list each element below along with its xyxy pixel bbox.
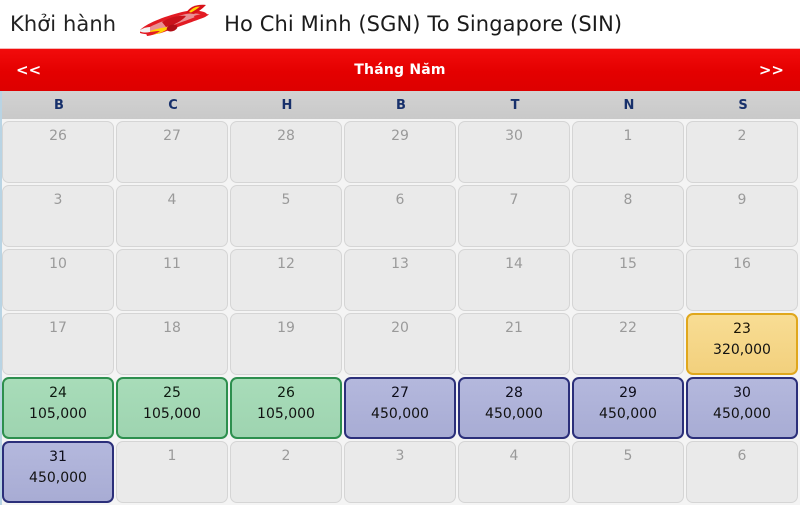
calendar-day-cell: 1 bbox=[572, 121, 684, 183]
calendar-day-cell: 20 bbox=[344, 313, 456, 375]
day-number: 22 bbox=[619, 320, 637, 337]
calendar-day-cell: 10 bbox=[2, 249, 114, 311]
calendar-day-cell: 2 bbox=[230, 441, 342, 503]
day-number: 28 bbox=[277, 128, 295, 145]
weekday-header-row: BCHBTNS bbox=[0, 91, 800, 119]
calendar-day-cell: 12 bbox=[230, 249, 342, 311]
day-number: 24 bbox=[49, 385, 67, 402]
day-number: 2 bbox=[282, 448, 291, 465]
calendar-day-cell: 6 bbox=[344, 185, 456, 247]
day-number: 12 bbox=[277, 256, 295, 273]
fare-price: 450,000 bbox=[599, 405, 657, 424]
calendar-day-cell-fare[interactable]: 31450,000 bbox=[2, 441, 114, 503]
calendar-day-cell-fare[interactable]: 23320,000 bbox=[686, 313, 798, 375]
calendar-day-cell: 6 bbox=[686, 441, 798, 503]
calendar-day-cell-fare[interactable]: 24105,000 bbox=[2, 377, 114, 439]
day-number: 28 bbox=[505, 385, 523, 402]
day-number: 8 bbox=[624, 192, 633, 209]
calendar-day-cell: 5 bbox=[230, 185, 342, 247]
day-number: 19 bbox=[277, 320, 295, 337]
page-header: Khởi hành Ho Chi bbox=[0, 0, 800, 48]
day-number: 26 bbox=[49, 128, 67, 145]
day-number: 27 bbox=[391, 385, 409, 402]
day-number: 1 bbox=[624, 128, 633, 145]
fare-price: 105,000 bbox=[257, 405, 315, 424]
current-month-label: Tháng Năm bbox=[354, 62, 445, 78]
day-number: 5 bbox=[282, 192, 291, 209]
weekday-header-4: T bbox=[458, 91, 572, 119]
calendar-day-cell: 18 bbox=[116, 313, 228, 375]
calendar-day-cell: 5 bbox=[572, 441, 684, 503]
calendar-day-cell-fare[interactable]: 25105,000 bbox=[116, 377, 228, 439]
calendar-day-cell: 16 bbox=[686, 249, 798, 311]
day-number: 26 bbox=[277, 385, 295, 402]
previous-month-button[interactable]: << bbox=[2, 49, 55, 91]
fare-price: 105,000 bbox=[143, 405, 201, 424]
day-number: 6 bbox=[738, 448, 747, 465]
day-number: 3 bbox=[54, 192, 63, 209]
day-number: 1 bbox=[168, 448, 177, 465]
day-number: 29 bbox=[619, 385, 637, 402]
day-number: 29 bbox=[391, 128, 409, 145]
day-number: 25 bbox=[163, 385, 181, 402]
day-number: 15 bbox=[619, 256, 637, 273]
vietjet-airplane-icon bbox=[124, 3, 220, 45]
calendar-day-cell: 22 bbox=[572, 313, 684, 375]
next-month-button[interactable]: >> bbox=[745, 49, 798, 91]
calendar-day-cell: 21 bbox=[458, 313, 570, 375]
weekday-header-3: B bbox=[344, 91, 458, 119]
weekday-header-0: B bbox=[2, 91, 116, 119]
calendar-day-cell-fare[interactable]: 29450,000 bbox=[572, 377, 684, 439]
day-number: 11 bbox=[163, 256, 181, 273]
weekday-header-5: N bbox=[572, 91, 686, 119]
day-number: 2 bbox=[738, 128, 747, 145]
calendar-day-cell: 19 bbox=[230, 313, 342, 375]
day-number: 17 bbox=[49, 320, 67, 337]
calendar-day-cell-fare[interactable]: 27450,000 bbox=[344, 377, 456, 439]
weekday-header-2: H bbox=[230, 91, 344, 119]
day-number: 21 bbox=[505, 320, 523, 337]
calendar-day-cell-fare[interactable]: 28450,000 bbox=[458, 377, 570, 439]
calendar-day-cell-fare[interactable]: 26105,000 bbox=[230, 377, 342, 439]
day-number: 4 bbox=[510, 448, 519, 465]
calendar-day-cell: 28 bbox=[230, 121, 342, 183]
day-number: 27 bbox=[163, 128, 181, 145]
fare-price: 320,000 bbox=[713, 341, 771, 360]
calendar-day-cell: 2 bbox=[686, 121, 798, 183]
day-number: 9 bbox=[738, 192, 747, 209]
day-number: 30 bbox=[505, 128, 523, 145]
calendar-day-cell: 4 bbox=[116, 185, 228, 247]
calendar-day-cell: 14 bbox=[458, 249, 570, 311]
fare-price: 105,000 bbox=[29, 405, 87, 424]
calendar-day-cell: 4 bbox=[458, 441, 570, 503]
calendar-day-cell: 29 bbox=[344, 121, 456, 183]
calendar-day-cell: 17 bbox=[2, 313, 114, 375]
day-number: 3 bbox=[396, 448, 405, 465]
day-number: 10 bbox=[49, 256, 67, 273]
calendar-grid: 2627282930123456789101112131415161718192… bbox=[0, 119, 800, 505]
calendar-day-cell: 7 bbox=[458, 185, 570, 247]
day-number: 4 bbox=[168, 192, 177, 209]
day-number: 14 bbox=[505, 256, 523, 273]
day-number: 7 bbox=[510, 192, 519, 209]
calendar-day-cell-fare[interactable]: 30450,000 bbox=[686, 377, 798, 439]
day-number: 6 bbox=[396, 192, 405, 209]
day-number: 13 bbox=[391, 256, 409, 273]
weekday-header-6: S bbox=[686, 91, 800, 119]
fare-price: 450,000 bbox=[713, 405, 771, 424]
calendar-day-cell: 15 bbox=[572, 249, 684, 311]
calendar-day-cell: 26 bbox=[2, 121, 114, 183]
weekday-header-1: C bbox=[116, 91, 230, 119]
calendar-day-cell: 9 bbox=[686, 185, 798, 247]
fare-price: 450,000 bbox=[29, 469, 87, 488]
calendar-day-cell: 13 bbox=[344, 249, 456, 311]
day-number: 31 bbox=[49, 449, 67, 466]
departure-label: Khởi hành bbox=[10, 12, 116, 36]
day-number: 23 bbox=[733, 321, 751, 338]
calendar-day-cell: 27 bbox=[116, 121, 228, 183]
fare-calendar-page: Khởi hành Ho Chi bbox=[0, 0, 800, 521]
calendar-day-cell: 11 bbox=[116, 249, 228, 311]
fare-price: 450,000 bbox=[485, 405, 543, 424]
day-number: 30 bbox=[733, 385, 751, 402]
calendar-day-cell: 8 bbox=[572, 185, 684, 247]
fare-price: 450,000 bbox=[371, 405, 429, 424]
month-navigation-bar: << Tháng Năm >> bbox=[0, 48, 800, 91]
calendar-day-cell: 3 bbox=[2, 185, 114, 247]
calendar-day-cell: 3 bbox=[344, 441, 456, 503]
day-number: 16 bbox=[733, 256, 751, 273]
route-title: Ho Chi Minh (SGN) To Singapore (SIN) bbox=[224, 12, 622, 36]
calendar-day-cell: 30 bbox=[458, 121, 570, 183]
day-number: 5 bbox=[624, 448, 633, 465]
day-number: 18 bbox=[163, 320, 181, 337]
day-number: 20 bbox=[391, 320, 409, 337]
calendar-day-cell: 1 bbox=[116, 441, 228, 503]
